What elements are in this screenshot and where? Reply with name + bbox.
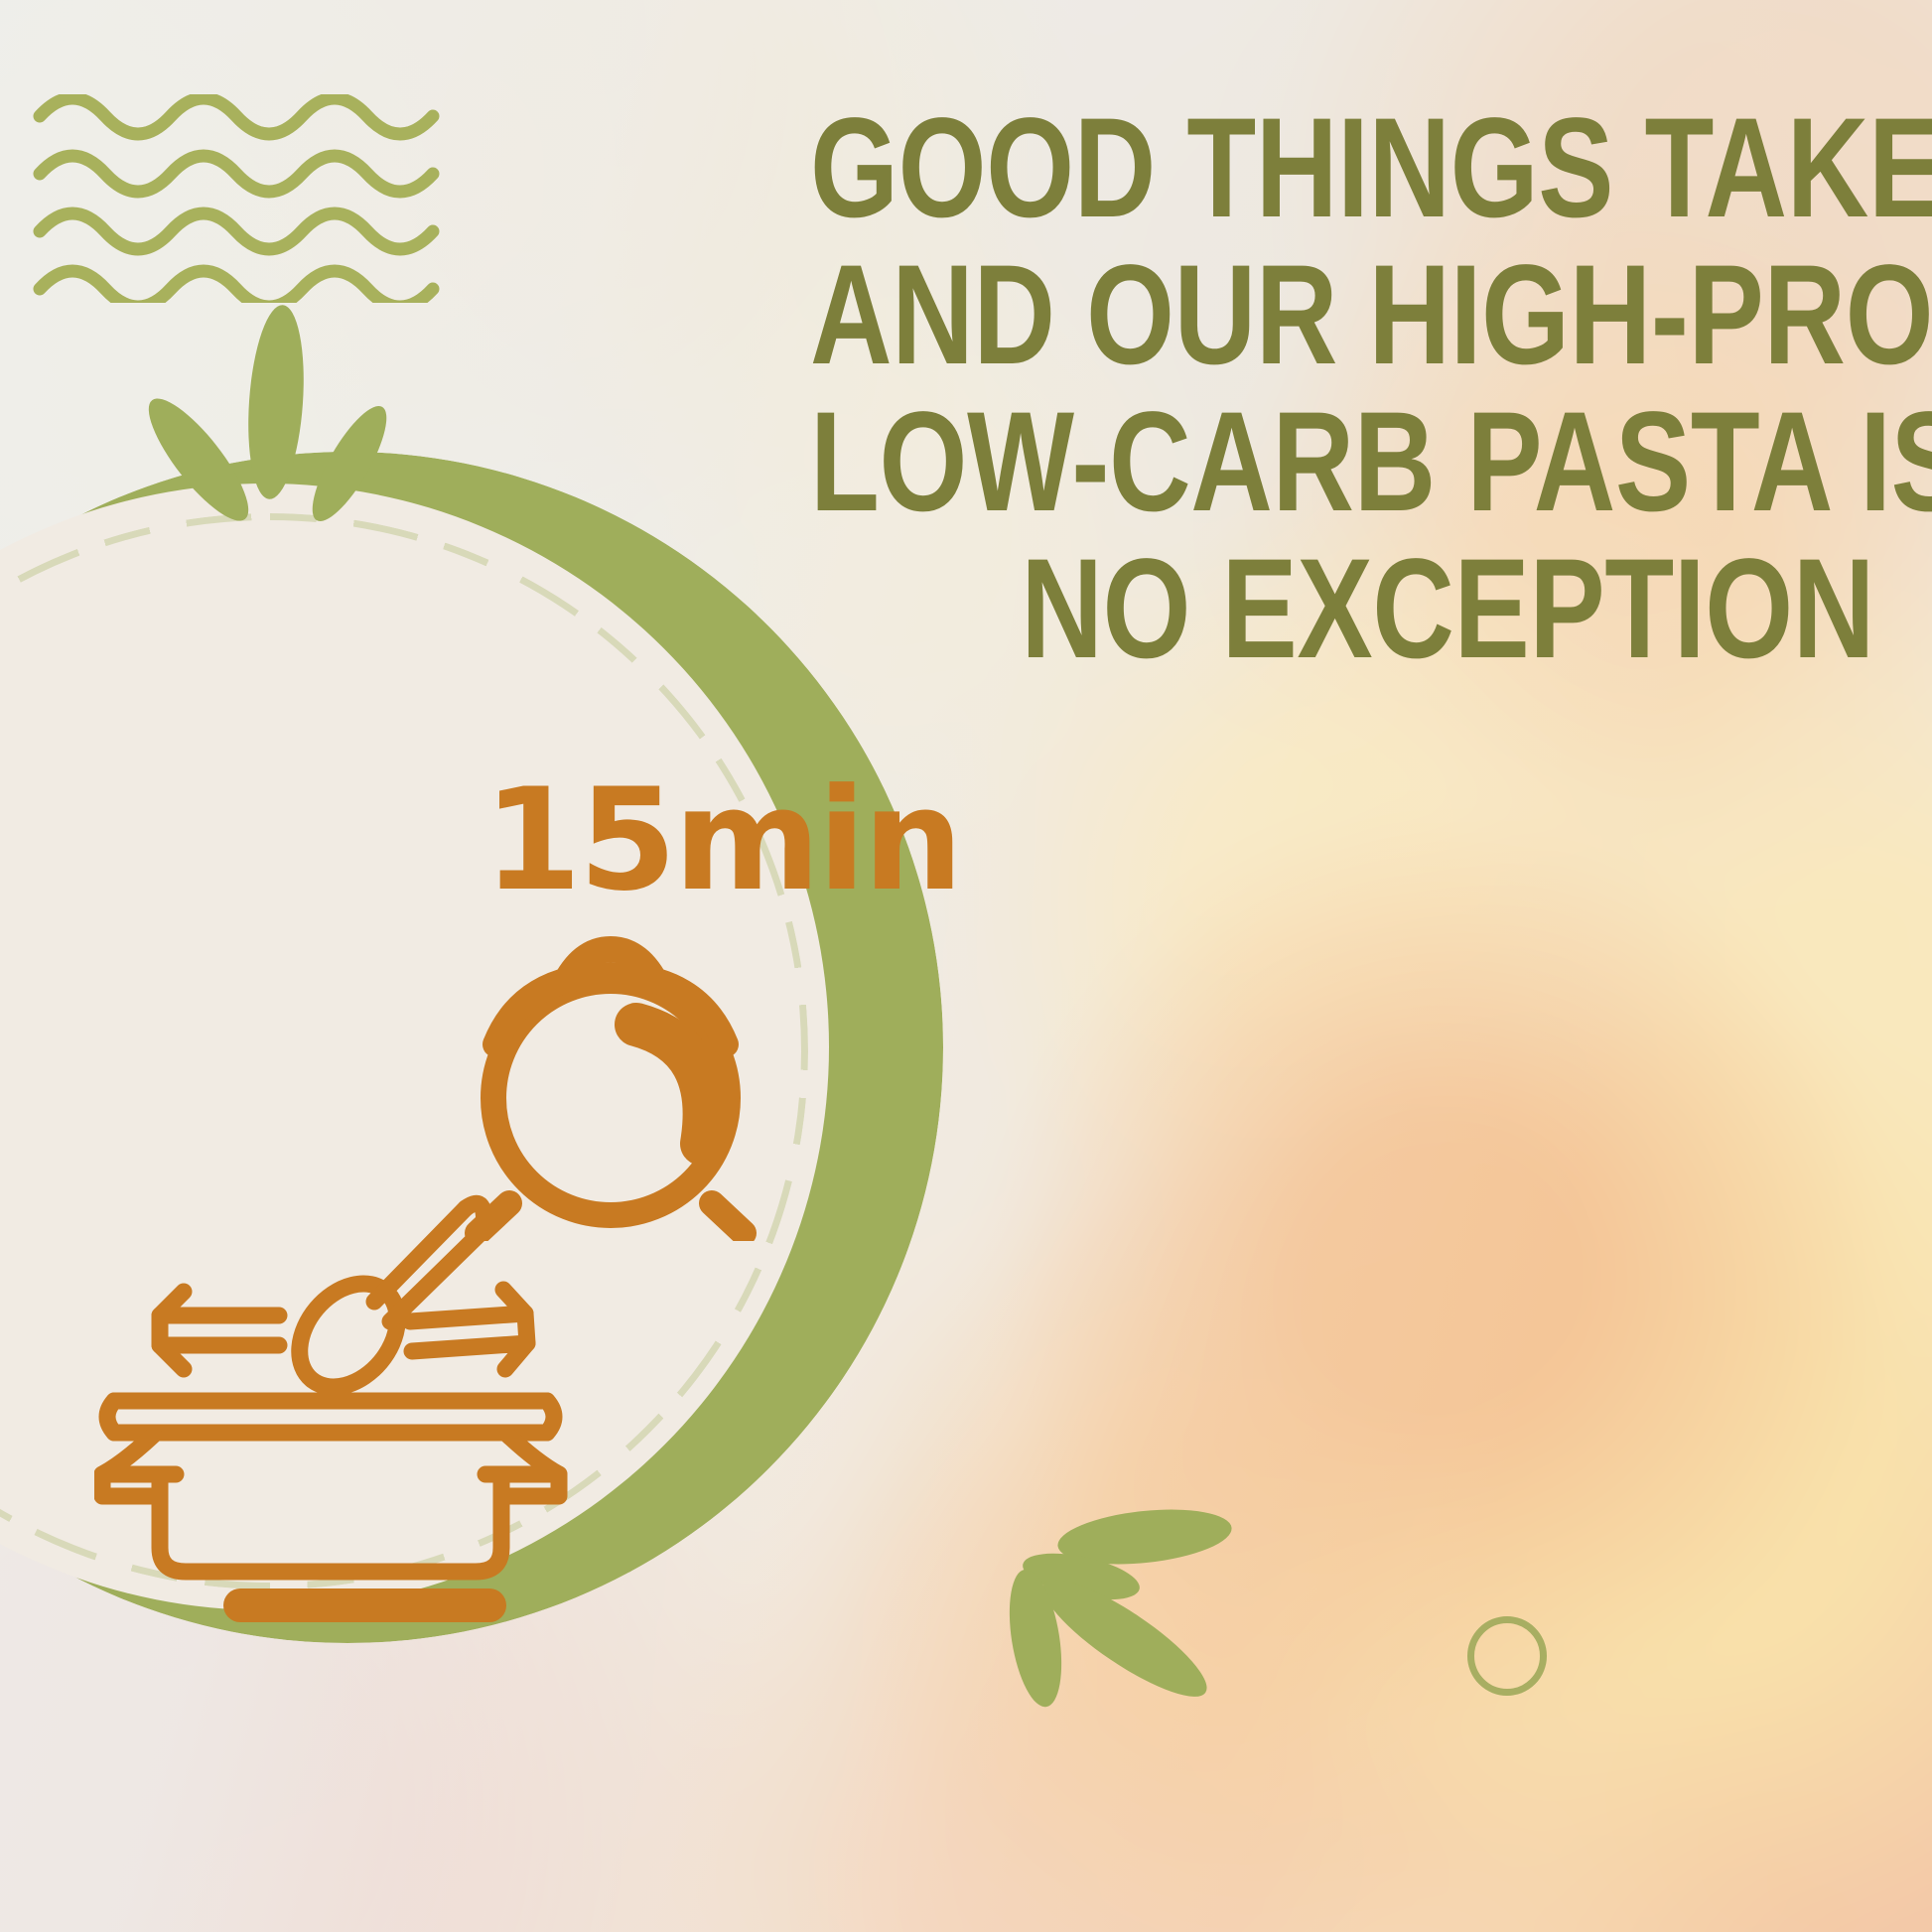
promo-canvas: GOOD THINGS TAKE TIME, AND OUR HIGH-PROT…	[0, 0, 1932, 1932]
page-title: GOOD THINGS TAKE TIME, AND OUR HIGH-PROT…	[810, 95, 1874, 683]
small-circle-outline-icon	[1467, 1616, 1547, 1696]
headline-line-3: LOW-CARB PASTA IS	[810, 389, 1874, 536]
cook-time-label: 15min	[483, 770, 960, 911]
leaf-splash-icon	[978, 1489, 1276, 1792]
headline-line-4: NO EXCEPTION	[810, 536, 1874, 683]
wavy-pasta-lines-icon	[30, 94, 447, 308]
headline-line-1: GOOD THINGS TAKE TIME,	[810, 95, 1874, 242]
stir-arrow-right	[410, 1290, 527, 1369]
cooking-pot-with-spoon-icon	[94, 1147, 591, 1588]
stir-arrow-left	[160, 1292, 279, 1369]
pot-base-bar	[223, 1588, 506, 1622]
leaf-splash-icon	[129, 303, 387, 546]
headline-line-2: AND OUR HIGH-PROTEIN,	[810, 242, 1874, 389]
